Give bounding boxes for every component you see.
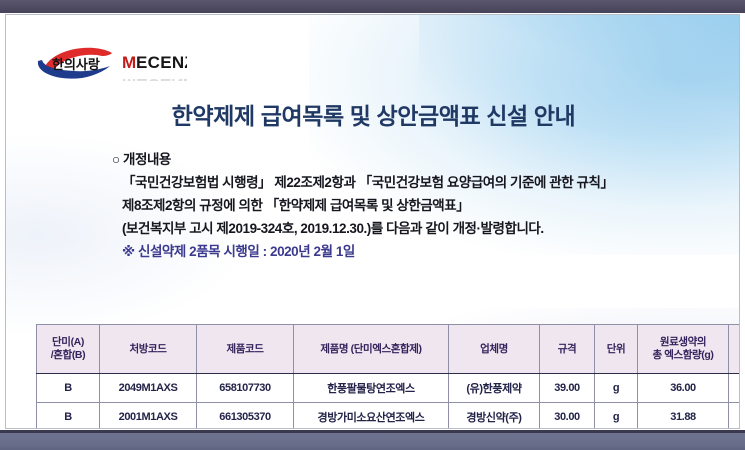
cell-unit-mix: B (37, 374, 100, 403)
cell-unit-mix: B (37, 403, 100, 430)
cell-rx-code: 2001M1AXS (100, 403, 197, 430)
cell-uom: g (595, 403, 638, 430)
col-header-total-extract-line1: 원료생약의 (660, 336, 706, 348)
col-header-extract: 원료생약의 엑스함량(g) (729, 325, 741, 374)
drug-price-table-wrapper: 단미(A) /혼합(B) 처방코드 제품코드 제품명 (단미엑스혼합제) 업체명… (36, 324, 736, 429)
col-header-uom: 단위 (595, 325, 638, 374)
col-header-unit-mix-line2: /혼합(B) (51, 349, 85, 361)
drug-price-table: 단미(A) /혼합(B) 처방코드 제품코드 제품명 (단미엑스혼합제) 업체명… (36, 324, 740, 429)
col-header-spec: 규격 (540, 325, 595, 374)
cell-extract: 13,140 (729, 374, 741, 403)
effective-date-note: ※ 신설약제 2품목 시행일 : 2020년 2월 1일 (112, 240, 672, 263)
cell-product-name: 한풍팔물탕연조엑스 (294, 374, 449, 403)
cell-product-code: 661305370 (197, 403, 294, 430)
slide-canvas: 한의사랑 M ECENZ MECENZ 한약제제 급여목록 및 상안금액표 신설… (0, 0, 745, 450)
table-row: B 2001M1AXS 661305370 경방가미소요산연조엑스 경방신약(주… (37, 403, 741, 430)
table-body: B 2049M1AXS 658107730 한풍팔물탕연조엑스 (유)한풍제약 … (37, 374, 741, 430)
cell-total-extract: 31.88 (638, 403, 729, 430)
cell-total-extract: 36.00 (638, 374, 729, 403)
body-line-2: 제8조제2항의 규정에 의한 「한약제제 급여목록 및 상한금액표」 (112, 194, 672, 217)
logo-korean-text: 한의사랑 (52, 57, 100, 72)
cell-company: 경방신약(주) (449, 403, 540, 430)
notice-body: ○ 개정내용 「국민건강보험법 시행령」 제22조제2항과 「국민건강보험 요양… (112, 148, 672, 263)
col-header-unit-mix-line1: 단미(A) (52, 336, 84, 348)
table-header-row: 단미(A) /혼합(B) 처방코드 제품코드 제품명 (단미엑스혼합제) 업체명… (37, 325, 741, 374)
section-heading: ○ 개정내용 (112, 148, 672, 171)
table-header: 단미(A) /혼합(B) 처방코드 제품코드 제품명 (단미엑스혼합제) 업체명… (37, 325, 741, 374)
col-header-total-extract: 원료생약의 총 엑스함량(g) (638, 325, 729, 374)
body-line-1: 「국민건강보험법 시행령」 제22조제2항과 「국민건강보험 요양급여의 기준에… (112, 171, 672, 194)
cell-extract: 10,242 (729, 403, 741, 430)
cell-product-code: 658107730 (197, 374, 294, 403)
col-header-product-code: 제품코드 (197, 325, 294, 374)
cell-company: (유)한풍제약 (449, 374, 540, 403)
cell-spec: 39.00 (540, 374, 595, 403)
body-line-3: (보건복지부 고시 제2019-324호, 2019.12.30.)를 다음과 … (112, 217, 672, 240)
col-header-total-extract-line2: 총 엑스함량(g) (652, 349, 713, 361)
cell-rx-code: 2049M1AXS (100, 374, 197, 403)
logo-brand-rest: ECENZ (136, 53, 187, 72)
logo-reflection: MECENZ (122, 75, 187, 81)
col-header-product-name: 제품명 (단미엑스혼합제) (294, 325, 449, 374)
logo-brand-initial: M (122, 53, 136, 72)
col-header-rx-code: 처방코드 (100, 325, 197, 374)
page-title: 한약제제 급여목록 및 상안금액표 신설 안내 (6, 97, 740, 131)
top-accent-bar (0, 0, 745, 13)
col-header-unit-mix: 단미(A) /혼합(B) (37, 325, 100, 374)
company-logo: 한의사랑 M ECENZ MECENZ (32, 43, 187, 81)
cell-uom: g (595, 374, 638, 403)
bottom-accent-bar (0, 433, 745, 450)
table-row: B 2049M1AXS 658107730 한풍팔물탕연조엑스 (유)한풍제약 … (37, 374, 741, 403)
content-panel: 한의사랑 M ECENZ MECENZ 한약제제 급여목록 및 상안금액표 신설… (5, 14, 740, 429)
cell-product-name: 경방가미소요산연조엑스 (294, 403, 449, 430)
cell-spec: 30.00 (540, 403, 595, 430)
col-header-company: 업체명 (449, 325, 540, 374)
svg-text:MECENZ: MECENZ (122, 75, 187, 81)
